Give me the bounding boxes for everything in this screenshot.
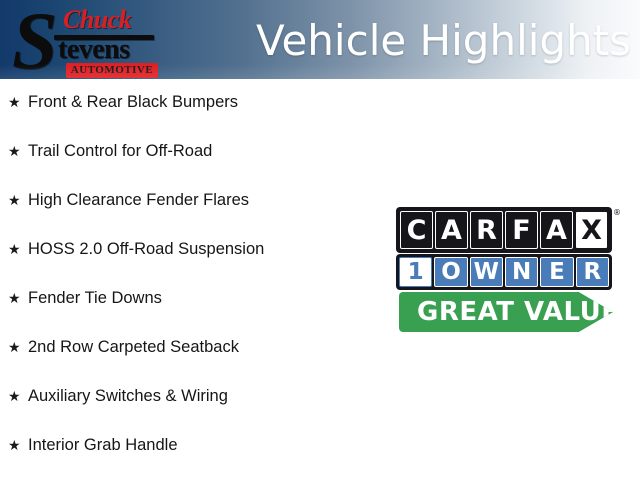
list-item: ★ Auxiliary Switches & Wiring (0, 387, 380, 436)
list-item-label: Front & Rear Black Bumpers (28, 93, 238, 111)
carfax-owner-row: 1 O W N E R (396, 254, 612, 290)
carfax-letter-tile: R (470, 211, 503, 249)
vehicle-highlights-list: ★ Front & Rear Black Bumpers ★ Trail Con… (0, 79, 380, 480)
carfax-letter-tile: X (575, 211, 608, 249)
star-icon: ★ (8, 436, 28, 454)
star-icon: ★ (8, 338, 28, 356)
carfax-owner-tile: N (505, 257, 538, 287)
content-area: ★ Front & Rear Black Bumpers ★ Trail Con… (0, 79, 640, 480)
dealer-logo[interactable]: S Chuck tevens AUTOMOTIVE (8, 4, 168, 76)
star-icon: ★ (8, 387, 28, 405)
list-item-label: 2nd Row Carpeted Seatback (28, 338, 239, 356)
carfax-owner-tile: E (540, 257, 573, 287)
list-item-label: Trail Control for Off-Road (28, 142, 212, 160)
page-title: Vehicle Highlights (256, 12, 632, 70)
carfax-letter-tile: A (540, 211, 573, 249)
list-item: ★ Front & Rear Black Bumpers (0, 93, 380, 142)
carfax-owner-tile: W (470, 257, 503, 287)
star-icon: ★ (8, 289, 28, 307)
logo-bottom-word: tevens (58, 36, 130, 64)
vehicle-highlights-slide: S Chuck tevens AUTOMOTIVE Vehicle Highli… (0, 0, 640, 480)
carfax-owner-tile: 1 (399, 257, 432, 287)
carfax-letter-tile: A (435, 211, 468, 249)
carfax-owner-tile: O (434, 257, 467, 287)
logo-top-word: Chuck (63, 7, 131, 33)
list-item: ★ Interior Grab Handle (0, 436, 380, 480)
logo-tagline-label: AUTOMOTIVE (66, 63, 158, 78)
carfax-badge[interactable]: C A R F A X ® 1 O W N E R GREAT VALUE (396, 207, 618, 333)
list-item-label: High Clearance Fender Flares (28, 191, 249, 209)
carfax-brand-row: C A R F A X (396, 207, 612, 253)
list-item: ★ 2nd Row Carpeted Seatback (0, 338, 380, 387)
star-icon: ★ (8, 93, 28, 111)
great-value-label: GREAT VALUE (399, 299, 620, 325)
carfax-great-value-banner: GREAT VALUE (399, 292, 613, 332)
star-icon: ★ (8, 142, 28, 160)
registered-trademark-icon: ® (613, 208, 621, 217)
list-item-label: Fender Tie Downs (28, 289, 162, 307)
carfax-owner-tile: R (576, 257, 609, 287)
star-icon: ★ (8, 191, 28, 209)
list-item: ★ High Clearance Fender Flares (0, 191, 380, 240)
star-icon: ★ (8, 240, 28, 258)
carfax-letter-tile: F (505, 211, 538, 249)
list-item-label: HOSS 2.0 Off-Road Suspension (28, 240, 264, 258)
carfax-letter-tile: C (400, 211, 433, 249)
list-item: ★ Fender Tie Downs (0, 289, 380, 338)
list-item: ★ HOSS 2.0 Off-Road Suspension (0, 240, 380, 289)
list-item: ★ Trail Control for Off-Road (0, 142, 380, 191)
page-header: S Chuck tevens AUTOMOTIVE Vehicle Highli… (0, 0, 640, 79)
logo-tagline-bar: AUTOMOTIVE (66, 63, 158, 78)
list-item-label: Auxiliary Switches & Wiring (28, 387, 228, 405)
list-item-label: Interior Grab Handle (28, 436, 178, 454)
logo-initial: S (12, 0, 56, 79)
